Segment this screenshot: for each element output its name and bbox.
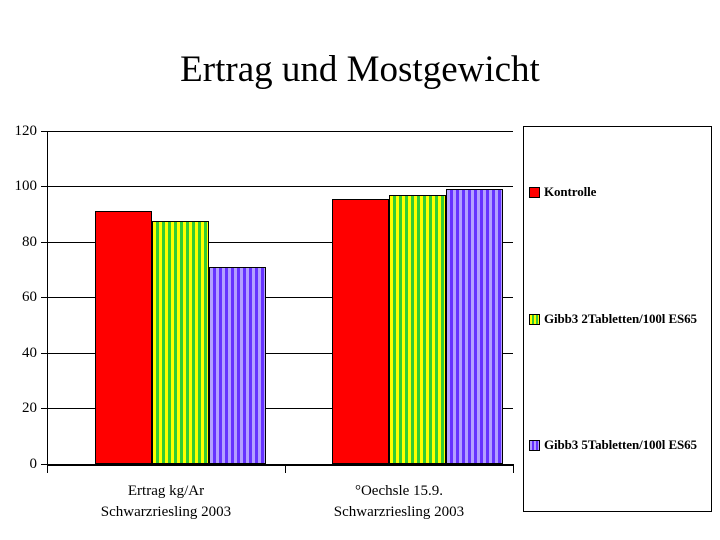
bar-group1-gibb3-5tabletten[interactable] bbox=[209, 267, 266, 464]
chart-page: Ertrag und Mostgewicht 120 100 80 60 40 … bbox=[0, 0, 720, 540]
chart-legend: Kontrolle Gibb3 2Tabletten/100l ES65 Gib… bbox=[523, 126, 712, 512]
x-tick-end bbox=[513, 464, 514, 473]
y-tick-label-20: 20 bbox=[0, 401, 37, 416]
gridline-100 bbox=[47, 186, 513, 187]
y-tick-label-40: 40 bbox=[0, 346, 37, 361]
y-tick-label-0: 0 bbox=[0, 457, 37, 472]
bar-group1-kontrolle[interactable] bbox=[95, 211, 152, 464]
gridline-120 bbox=[47, 131, 513, 132]
x-tick-start bbox=[47, 464, 48, 473]
plot-area bbox=[47, 131, 513, 464]
legend-label-gibb3-2tabletten: Gibb3 2Tabletten/100l ES65 bbox=[544, 312, 697, 326]
legend-swatch-purple-icon bbox=[529, 440, 540, 451]
bar-group2-kontrolle[interactable] bbox=[332, 199, 389, 464]
y-tick-label-120: 120 bbox=[0, 124, 37, 139]
legend-entry-kontrolle[interactable]: Kontrolle bbox=[529, 185, 596, 199]
y-tick-label-60: 60 bbox=[0, 290, 37, 305]
chart-title: Ertrag und Mostgewicht bbox=[0, 48, 720, 92]
y-tick-label-100: 100 bbox=[0, 179, 37, 194]
x-category-label-1: Ertrag kg/Ar Schwarzriesling 2003 bbox=[47, 481, 285, 523]
legend-swatch-red-icon bbox=[529, 187, 540, 198]
legend-entry-gibb3-5tabletten[interactable]: Gibb3 5Tabletten/100l ES65 bbox=[529, 438, 697, 452]
x-category-label-2-line1: °Oechsle 15.9. bbox=[285, 481, 513, 502]
x-category-label-2: °Oechsle 15.9. Schwarzriesling 2003 bbox=[285, 481, 513, 523]
bar-group2-gibb3-5tabletten[interactable] bbox=[446, 189, 503, 464]
x-category-label-2-line2: Schwarzriesling 2003 bbox=[285, 502, 513, 523]
x-tick-divider bbox=[285, 464, 286, 473]
legend-label-gibb3-5tabletten: Gibb3 5Tabletten/100l ES65 bbox=[544, 438, 697, 452]
x-category-label-1-line1: Ertrag kg/Ar bbox=[47, 481, 285, 502]
bar-group1-gibb3-2tabletten[interactable] bbox=[152, 221, 209, 464]
legend-label-kontrolle: Kontrolle bbox=[544, 185, 596, 199]
legend-swatch-green-icon bbox=[529, 314, 540, 325]
y-tick-label-80: 80 bbox=[0, 235, 37, 250]
x-category-label-1-line2: Schwarzriesling 2003 bbox=[47, 502, 285, 523]
bar-group2-gibb3-2tabletten[interactable] bbox=[389, 195, 446, 464]
x-axis-line bbox=[47, 464, 514, 466]
legend-entry-gibb3-2tabletten[interactable]: Gibb3 2Tabletten/100l ES65 bbox=[529, 312, 697, 326]
